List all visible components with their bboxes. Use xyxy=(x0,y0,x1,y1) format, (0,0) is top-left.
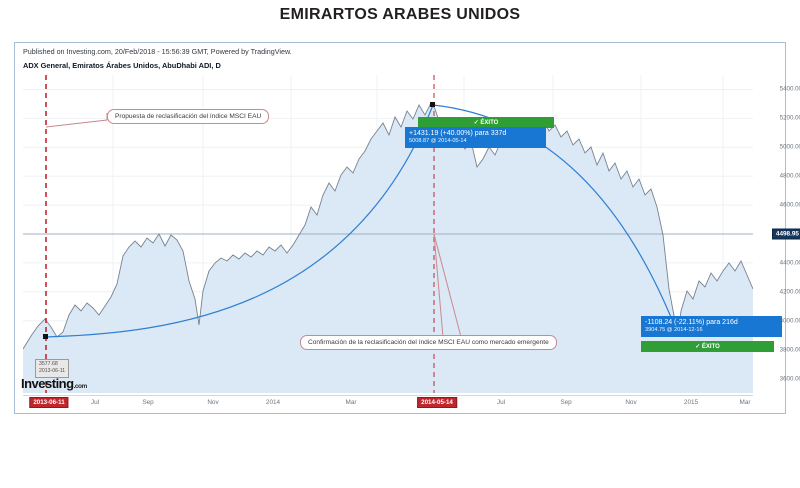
measurement-headline-up: +1431.19 (+40.00%) para 337d xyxy=(409,129,542,138)
y-tick: 4800.00 xyxy=(780,173,800,180)
annotation-confirmation: Confirmación de la reclasificación del í… xyxy=(300,335,557,350)
start-marker-tooltip: 3577.68 2013-06-11 xyxy=(35,359,69,378)
x-tick: Mar xyxy=(739,399,750,406)
anchor-peak xyxy=(430,102,435,107)
callout-leader-proposal xyxy=(46,113,107,127)
y-tick: 3800.00 xyxy=(780,347,800,354)
watermark-suffix: .com xyxy=(74,383,87,390)
y-tick: 5000.00 xyxy=(780,144,800,151)
x-tick-badge-event: 2014-05-14 xyxy=(417,397,457,408)
y-tick: 4400.00 xyxy=(780,260,800,267)
x-tick: Jul xyxy=(91,399,99,406)
page-title: EMIRARTOS ARABES UNIDOS xyxy=(0,6,800,24)
x-axis: 2013-06-11 Jul Sep Nov 2014 Mar 2014-05-… xyxy=(23,395,753,412)
y-tick: 3600.00 xyxy=(780,376,800,383)
symbol-label: ADX General, Emiratos Árabes Unidos, Abu… xyxy=(23,61,221,70)
anchor-start xyxy=(43,334,48,339)
watermark-text: Investing xyxy=(21,376,74,391)
start-marker-date: 2013-06-11 xyxy=(39,368,65,375)
success-badge-down: ✓ ÉXITO xyxy=(641,341,774,352)
y-tick: 5200.00 xyxy=(780,115,800,122)
measurement-tooltip-up: +1431.19 (+40.00%) para 337d 5008.87 @ 2… xyxy=(405,127,546,148)
y-tick: 5400.00 xyxy=(780,86,800,93)
x-tick-badge-start: 2013-06-11 xyxy=(29,397,68,408)
measurement-headline-down: -1108.24 (-22.11%) para 216d xyxy=(645,318,778,327)
y-tick: 4200.00 xyxy=(780,289,800,296)
published-credit: Published on Investing.com, 20/Feb/2018 … xyxy=(23,47,292,56)
x-tick: Jul xyxy=(497,399,505,406)
y-tick: 4000.00 xyxy=(780,318,800,325)
measurement-detail-up: 5008.87 @ 2014-05-14 xyxy=(409,138,542,146)
x-tick: Mar xyxy=(345,399,356,406)
measurement-tooltip-down: -1108.24 (-22.11%) para 216d 3904.75 @ 2… xyxy=(641,316,782,337)
y-tick: 4600.00 xyxy=(780,202,800,209)
annotation-proposal: Propuesta de reclasificación del índice … xyxy=(107,109,269,124)
x-tick: Sep xyxy=(142,399,153,406)
x-tick: Nov xyxy=(625,399,636,406)
measurement-detail-down: 3904.75 @ 2014-12-16 xyxy=(645,327,778,335)
chart-container: Published on Investing.com, 20/Feb/2018 … xyxy=(14,42,786,414)
investing-watermark: Investing.com xyxy=(21,376,87,391)
x-tick: Nov xyxy=(207,399,218,406)
x-tick: Sep xyxy=(560,399,571,406)
last-price-badge: 4498.95 xyxy=(772,229,800,240)
start-marker-value: 3577.68 xyxy=(39,361,65,368)
x-tick: 2014 xyxy=(266,399,280,406)
x-tick: 2015 xyxy=(684,399,698,406)
